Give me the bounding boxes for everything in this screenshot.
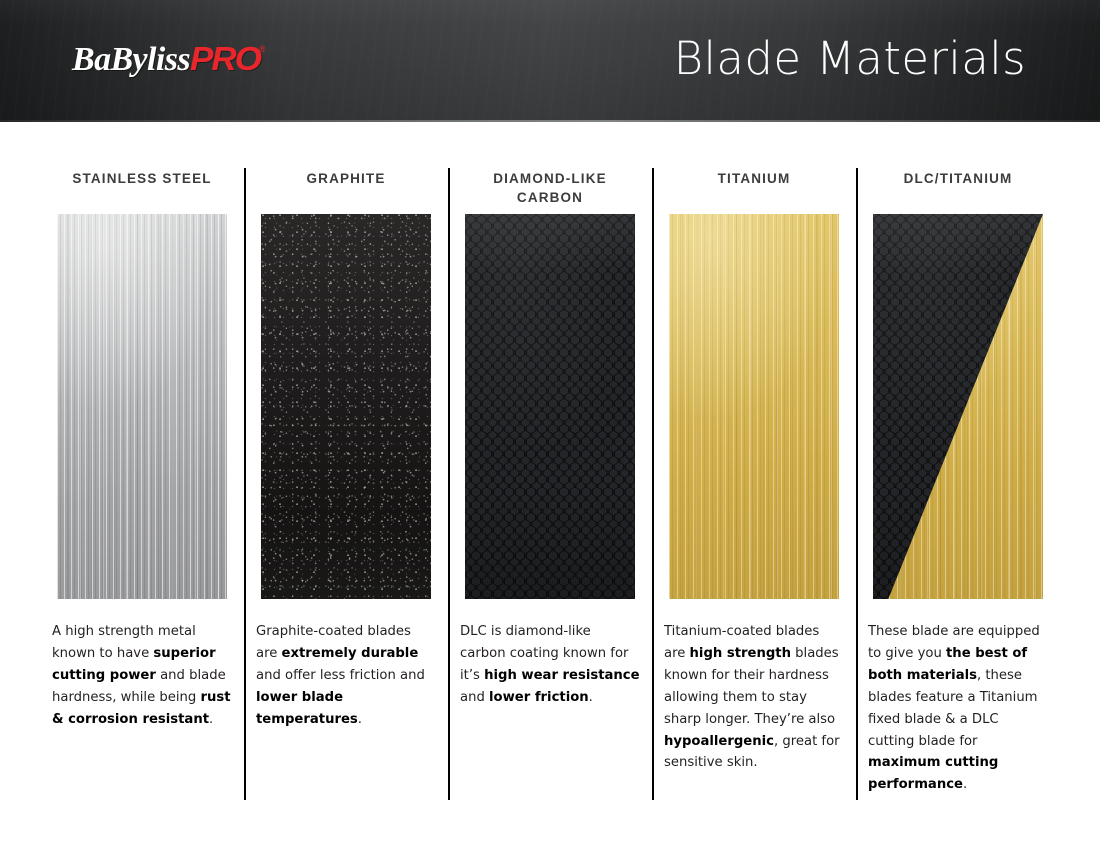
material-swatch-dlc-titanium bbox=[873, 214, 1043, 599]
description-emphasis: extremely durable bbox=[282, 646, 419, 661]
materials-sheet: STAINLESS STEELA high strength metal kno… bbox=[0, 122, 1100, 847]
material-column-dlc-titanium: DLC/TITANIUMThese blade are equipped to … bbox=[856, 168, 1060, 800]
material-swatch-diamond-like-carbon bbox=[465, 214, 635, 599]
description-text: and bbox=[460, 690, 489, 705]
description-text: . bbox=[209, 712, 213, 727]
brand-logo-pro: PRO bbox=[190, 40, 260, 78]
material-description-dlc-titanium: These blade are equipped to give you the… bbox=[868, 621, 1048, 796]
description-text: . bbox=[358, 712, 362, 727]
material-title-graphite: GRAPHITE bbox=[307, 168, 386, 214]
materials-columns: STAINLESS STEELA high strength metal kno… bbox=[40, 168, 1060, 800]
registered-trademark-icon: ® bbox=[259, 44, 266, 54]
material-description-stainless-steel: A high strength metal known to have supe… bbox=[52, 621, 232, 731]
material-title-stainless-steel: STAINLESS STEEL bbox=[72, 168, 211, 214]
material-description-diamond-like-carbon: DLC is diamond-like carbon coating known… bbox=[460, 621, 640, 709]
description-emphasis: high wear resistance bbox=[484, 668, 639, 683]
material-swatch-titanium bbox=[669, 214, 839, 599]
description-text: . bbox=[963, 777, 967, 792]
material-swatch-graphite bbox=[261, 214, 431, 599]
material-description-graphite: Graphite-coated blades are extremely dur… bbox=[256, 621, 436, 731]
material-column-diamond-like-carbon: DIAMOND-LIKE CARBONDLC is diamond-like c… bbox=[448, 168, 652, 800]
material-column-titanium: TITANIUMTitanium-coated blades are high … bbox=[652, 168, 856, 800]
description-emphasis: lower blade temperatures bbox=[256, 690, 358, 727]
material-column-graphite: GRAPHITEGraphite-coated blades are extre… bbox=[244, 168, 448, 800]
page-header: BaByliss PRO ® Blade Materials bbox=[0, 0, 1100, 122]
material-description-titanium: Titanium-coated blades are high strength… bbox=[664, 621, 844, 774]
description-text: . bbox=[589, 690, 593, 705]
brand-logo: BaByliss PRO ® bbox=[72, 40, 266, 79]
brand-logo-babyliss: BaByliss bbox=[72, 41, 190, 79]
material-title-dlc-titanium: DLC/TITANIUM bbox=[904, 168, 1013, 214]
material-title-diamond-like-carbon: DIAMOND-LIKE CARBON bbox=[460, 168, 640, 214]
description-emphasis: lower friction bbox=[489, 690, 589, 705]
description-emphasis: hypoallergenic bbox=[664, 734, 774, 749]
description-text: and offer less friction and bbox=[256, 668, 425, 683]
description-emphasis: high strength bbox=[690, 646, 791, 661]
description-emphasis: maximum cutting performance bbox=[868, 755, 998, 792]
material-title-titanium: TITANIUM bbox=[718, 168, 791, 214]
page-title: Blade Materials bbox=[674, 32, 1026, 85]
material-column-stainless-steel: STAINLESS STEELA high strength metal kno… bbox=[40, 168, 244, 800]
material-swatch-stainless-steel bbox=[57, 214, 227, 599]
